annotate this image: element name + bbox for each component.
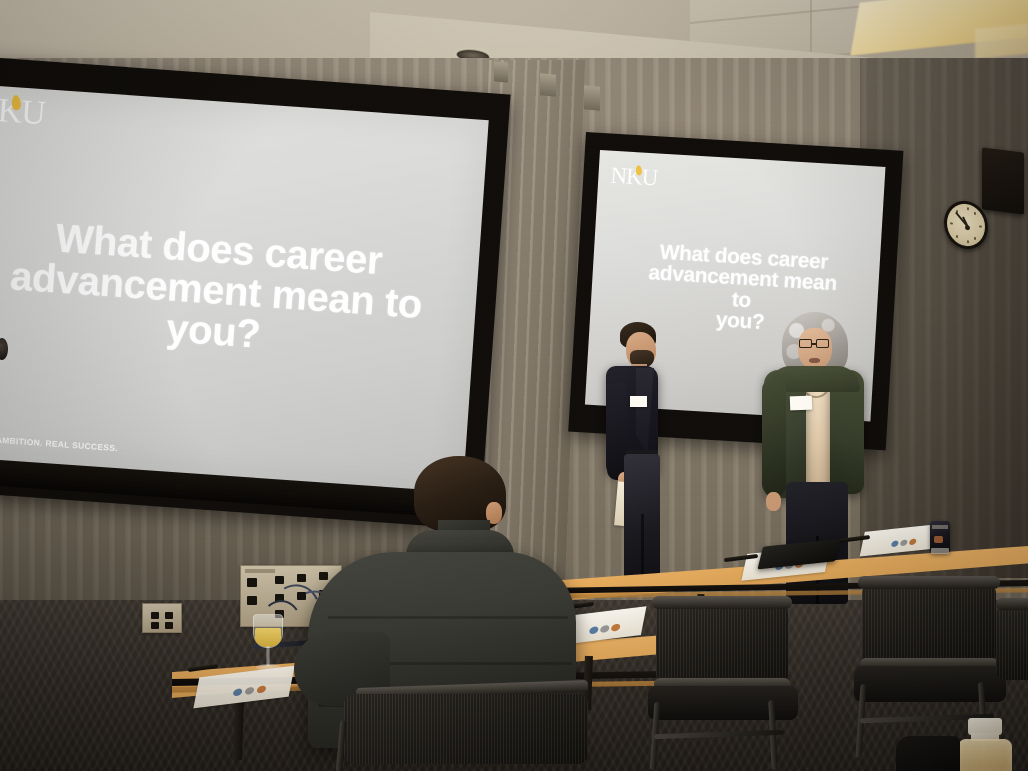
glasses-icon [799, 339, 831, 348]
slide-tagline: REAL AMBITION. REAL SUCCESS. [0, 433, 118, 453]
jacket-seam [328, 616, 568, 619]
data-wall-plate [142, 603, 182, 633]
ceiling-bracket [494, 61, 508, 82]
presenter-left-name-badge [630, 396, 647, 407]
presenter-right-mouth [809, 358, 820, 363]
chair-far-right[interactable] [996, 596, 1028, 716]
chair-backrest [656, 604, 788, 684]
drink-can [930, 521, 950, 553]
chair-middle[interactable] [648, 582, 798, 771]
presenter-right-name-badge [790, 396, 812, 411]
ceiling-light-panel-secondary [975, 23, 1028, 59]
wine-glass [250, 614, 286, 676]
presenter-right-hand [766, 492, 781, 511]
presenter-right-arm [762, 378, 786, 496]
ceiling-speaker-icon [982, 147, 1024, 214]
chair-cross-rail [654, 730, 784, 740]
wine-glass-stem [266, 646, 270, 666]
chair-foreground-left[interactable] [330, 694, 600, 771]
ceiling-bracket [584, 85, 600, 110]
nku-logo: NKU [0, 90, 46, 133]
nku-logo-text: NKU [610, 163, 658, 191]
water-bottle [954, 718, 1014, 771]
nku-logo-text: NKU [0, 90, 46, 132]
foreground-shadow-object [896, 736, 960, 771]
chair-backrest [862, 584, 996, 664]
chair-top-rail [858, 576, 1000, 589]
nku-logo: NKU [610, 163, 658, 192]
conference-room-photo: NKU What does career advancement mean to… [0, 0, 1028, 771]
slide-title: What does career advancement mean to you… [0, 215, 432, 367]
water-bottle-body [958, 739, 1012, 771]
left-projection-screen[interactable]: NKU What does career advancement mean to… [0, 84, 489, 497]
ceiling-bracket [540, 73, 556, 96]
wine-glass-liquid [255, 628, 281, 647]
chair-seat [648, 686, 798, 720]
wine-glass-base [256, 664, 281, 671]
presenter-right-head [798, 328, 832, 370]
chair-top-rail [652, 596, 792, 609]
